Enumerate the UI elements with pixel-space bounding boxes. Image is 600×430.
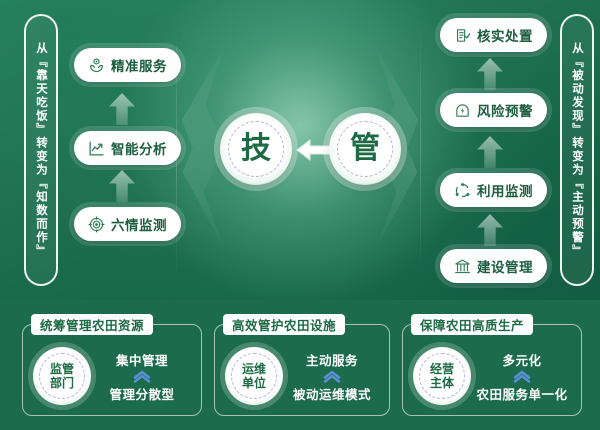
- card-label: 核实处置: [477, 25, 533, 45]
- transition-target: 集中管理: [116, 350, 168, 369]
- role-line-2: 主体: [430, 376, 454, 390]
- transition-target: 主动服务: [306, 350, 358, 369]
- chevron-up-icon: [513, 370, 531, 383]
- card-label: 利用监测: [477, 180, 533, 200]
- card-heshi-chuzhi[interactable]: 核实处置: [440, 18, 547, 52]
- ribbon-decoration-left: [178, 48, 224, 248]
- chevron-up-icon: [133, 370, 151, 383]
- recycle-network-icon: [454, 182, 471, 199]
- core-circle-technology: 技: [220, 113, 292, 185]
- panel-nongtian-ziyuan: 统筹管理农田资源 监管 部门 集中管理 管理分散型: [22, 324, 202, 416]
- card-label: 风险预警: [477, 100, 533, 120]
- role-circle: 经营 主体: [413, 347, 471, 405]
- role-line-1: 监管: [50, 362, 74, 376]
- transition-source: 被动运维模式: [293, 384, 371, 403]
- role-line-2: 单位: [242, 376, 266, 390]
- alert-warning-icon: [454, 102, 471, 119]
- panel-body: 经营 主体 多元化 农田服务单一化: [403, 325, 581, 415]
- role-circle: 运维 单位: [225, 347, 283, 405]
- transition-group: 集中管理 管理分散型: [91, 350, 193, 403]
- card-fengxian-yujing[interactable]: 风险预警: [440, 93, 547, 127]
- banner-right-text: 从『被动发现』转变为『主动预警』: [571, 42, 583, 258]
- role-line-1: 经营: [430, 362, 454, 376]
- panel-gaozhi-shengchan: 保障农田高质生产 经营 主体 多元化 农田服务单一化: [402, 324, 582, 416]
- hands-plant-icon: [88, 57, 105, 74]
- trend-chart-icon: [88, 140, 105, 157]
- bottom-section: 统筹管理农田资源 监管 部门 集中管理 管理分散型 高效管护农田设施: [0, 300, 600, 430]
- infographic-root: 从『靠天吃饭』转变为『知数而作』 从『被动发现』转变为『主动预警』 精准服务 智…: [0, 0, 600, 430]
- bank-building-icon: [454, 258, 471, 275]
- transition-group: 主动服务 被动运维模式: [283, 350, 381, 403]
- core-character: 技: [241, 134, 271, 164]
- card-liyong-jiance[interactable]: 利用监测: [440, 173, 547, 207]
- core-circle-management: 管: [329, 113, 401, 185]
- vertical-stripe-right: [420, 28, 421, 278]
- transition-source: 管理分散型: [109, 384, 174, 403]
- panel-nongtian-sheshi: 高效管护农田设施 运维 单位 主动服务 被动运维模式: [214, 324, 390, 416]
- panel-body: 监管 部门 集中管理 管理分散型: [23, 325, 201, 415]
- card-jingzhun-fuwu[interactable]: 精准服务: [74, 48, 181, 82]
- card-label: 建设管理: [477, 256, 533, 276]
- card-label: 智能分析: [111, 138, 167, 158]
- card-liuqing-jiance[interactable]: 六情监测: [74, 207, 181, 241]
- clipboard-check-icon: [454, 27, 471, 44]
- transition-source: 农田服务单一化: [476, 384, 567, 403]
- panel-body: 运维 单位 主动服务 被动运维模式: [215, 325, 389, 415]
- card-label: 六情监测: [111, 214, 167, 234]
- banner-left: 从『靠天吃饭』转变为『知数而作』: [24, 14, 58, 286]
- transition-group: 多元化 农田服务单一化: [471, 350, 573, 403]
- role-line-1: 运维: [242, 362, 266, 376]
- transition-target: 多元化: [502, 350, 541, 369]
- radar-target-icon: [88, 216, 105, 233]
- card-jianshe-guanli[interactable]: 建设管理: [440, 249, 547, 283]
- chevron-up-icon: [323, 370, 341, 383]
- role-line-2: 部门: [50, 376, 74, 390]
- banner-left-text: 从『靠天吃饭』转变为『知数而作』: [35, 42, 47, 258]
- core-character: 管: [350, 134, 380, 164]
- role-circle: 监管 部门: [33, 347, 91, 405]
- banner-right: 从『被动发现』转变为『主动预警』: [560, 14, 594, 286]
- card-label: 精准服务: [111, 55, 167, 75]
- card-zhineng-fenxi[interactable]: 智能分析: [74, 131, 181, 165]
